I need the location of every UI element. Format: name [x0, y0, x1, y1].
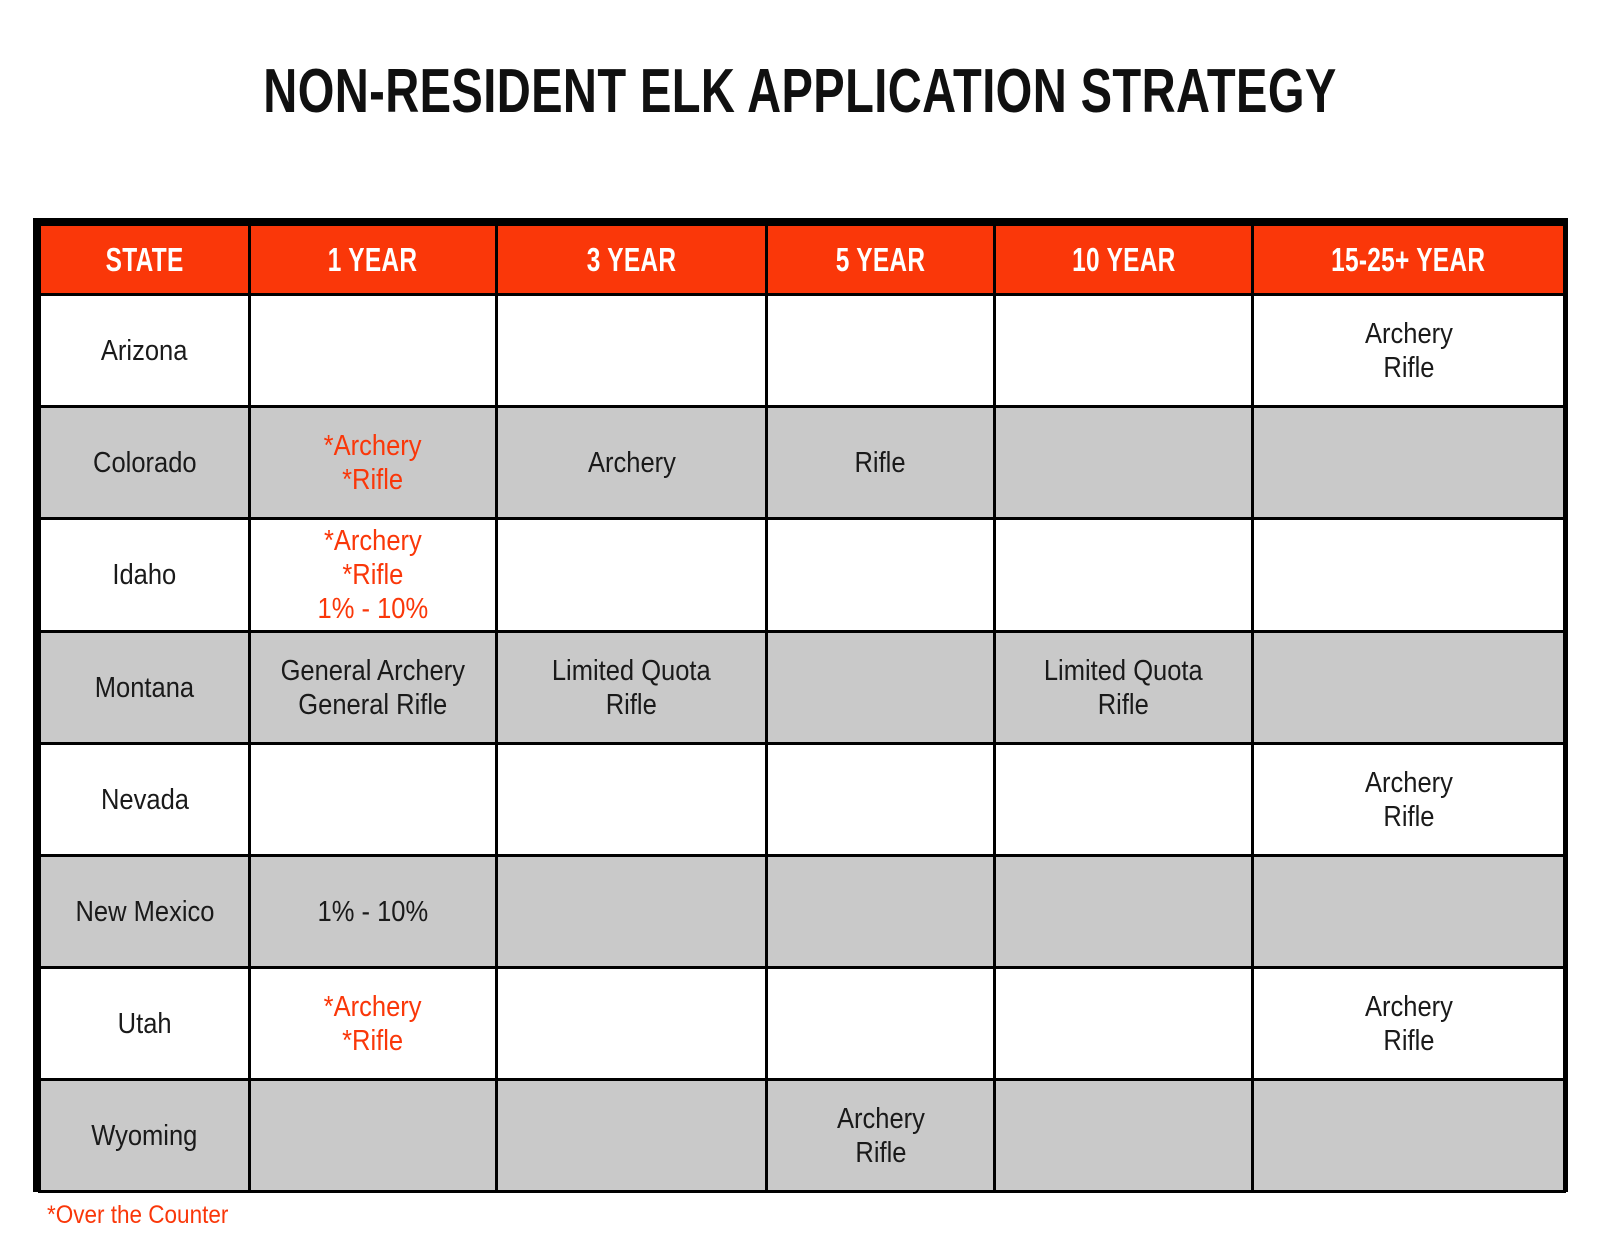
page-title: NON-RESIDENT ELK APPLICATION STRATEGY	[192, 56, 1408, 128]
cell-value: Limited Quota Rifle	[1044, 654, 1203, 722]
table-row: NevadaArchery Rifle	[40, 744, 1565, 856]
data-cell: Limited Quota Rifle	[995, 632, 1253, 744]
state-cell: Montana	[40, 632, 250, 744]
cell-value: Archery Rifle	[837, 1102, 925, 1170]
table-row: Utah*Archery *RifleArchery Rifle	[40, 968, 1565, 1080]
column-header-15-25-year-label: 15-25+ YEAR	[1331, 242, 1485, 278]
state-name: Nevada	[101, 783, 189, 817]
column-header-15-25-year: 15-25+ YEAR	[1253, 225, 1565, 295]
data-cell	[1253, 407, 1565, 519]
state-cell: Nevada	[40, 744, 250, 856]
data-cell	[250, 744, 497, 856]
table-row: Colorado*Archery *RifleArcheryRifle	[40, 407, 1565, 519]
data-cell	[497, 856, 767, 968]
column-header-state-label: STATE	[106, 242, 184, 278]
cell-value: Archery Rifle	[1365, 317, 1453, 385]
cell-value: General Archery General Rifle	[281, 654, 465, 722]
column-header-state: STATE	[40, 225, 250, 295]
state-name: Colorado	[93, 446, 197, 480]
footnote-label: *Over the Counter	[47, 1200, 228, 1230]
cell-value: Limited Quota Rifle	[552, 654, 711, 722]
state-name: Arizona	[101, 334, 188, 368]
state-cell: Wyoming	[40, 1080, 250, 1192]
column-header-5-year: 5 YEAR	[767, 225, 995, 295]
data-cell	[995, 295, 1253, 407]
state-name: New Mexico	[75, 895, 214, 929]
data-cell: 1% - 10%	[250, 856, 497, 968]
cell-value: Archery Rifle	[1365, 766, 1453, 834]
data-cell	[1253, 856, 1565, 968]
column-header-3-year-label: 3 YEAR	[587, 242, 677, 278]
cell-value: 1% - 10%	[318, 895, 429, 929]
table-header: STATE 1 YEAR 3 YEAR 5 YEAR 10 YEAR 15-25…	[40, 225, 1565, 295]
column-header-10-year-label: 10 YEAR	[1072, 242, 1175, 278]
data-cell	[250, 1080, 497, 1192]
data-cell	[767, 744, 995, 856]
data-cell	[995, 407, 1253, 519]
data-cell: *Archery *Rifle	[250, 968, 497, 1080]
table-row: ArizonaArchery Rifle	[40, 295, 1565, 407]
data-cell	[1253, 519, 1565, 632]
data-cell	[995, 744, 1253, 856]
strategy-table: STATE 1 YEAR 3 YEAR 5 YEAR 10 YEAR 15-25…	[38, 223, 1566, 1193]
state-name: Montana	[95, 671, 194, 705]
state-cell: Arizona	[40, 295, 250, 407]
data-cell	[767, 295, 995, 407]
column-header-1-year: 1 YEAR	[250, 225, 497, 295]
column-header-1-year-label: 1 YEAR	[328, 242, 418, 278]
data-cell: *Archery *Rifle 1% - 10%	[250, 519, 497, 632]
cell-value: Archery Rifle	[1365, 990, 1453, 1058]
data-cell: Archery	[497, 407, 767, 519]
data-cell	[767, 968, 995, 1080]
column-header-5-year-label: 5 YEAR	[836, 242, 926, 278]
data-cell	[1253, 1080, 1565, 1192]
data-cell: Archery Rifle	[1253, 295, 1565, 407]
data-cell: Archery Rifle	[767, 1080, 995, 1192]
data-cell	[995, 968, 1253, 1080]
cell-value: *Archery *Rifle	[324, 990, 422, 1058]
data-cell	[497, 968, 767, 1080]
data-cell	[995, 519, 1253, 632]
footnote: *Over the Counter	[47, 1200, 249, 1230]
state-cell: Utah	[40, 968, 250, 1080]
data-cell: *Archery *Rifle	[250, 407, 497, 519]
data-cell	[767, 519, 995, 632]
data-cell: Rifle	[767, 407, 995, 519]
state-name: Utah	[118, 1007, 172, 1041]
state-cell: New Mexico	[40, 856, 250, 968]
data-cell	[497, 744, 767, 856]
data-cell: Archery Rifle	[1253, 968, 1565, 1080]
cell-value: *Archery *Rifle 1% - 10%	[318, 524, 429, 626]
table-row: Idaho*Archery *Rifle 1% - 10%	[40, 519, 1565, 632]
data-cell	[767, 856, 995, 968]
cell-value: Archery	[588, 446, 676, 480]
data-cell	[497, 519, 767, 632]
data-cell	[250, 295, 497, 407]
table-row: New Mexico1% - 10%	[40, 856, 1565, 968]
column-header-3-year: 3 YEAR	[497, 225, 767, 295]
data-cell	[995, 1080, 1253, 1192]
header-row: STATE 1 YEAR 3 YEAR 5 YEAR 10 YEAR 15-25…	[40, 225, 1565, 295]
table-body: ArizonaArchery RifleColorado*Archery *Ri…	[40, 295, 1565, 1192]
state-name: Wyoming	[91, 1119, 197, 1153]
table-row: WyomingArchery Rifle	[40, 1080, 1565, 1192]
cell-value: Rifle	[855, 446, 906, 480]
strategy-table-container: STATE 1 YEAR 3 YEAR 5 YEAR 10 YEAR 15-25…	[33, 218, 1568, 1192]
data-cell	[497, 1080, 767, 1192]
data-cell: Limited Quota Rifle	[497, 632, 767, 744]
cell-value: *Archery *Rifle	[324, 429, 422, 497]
data-cell: General Archery General Rifle	[250, 632, 497, 744]
state-cell: Idaho	[40, 519, 250, 632]
state-name: Idaho	[113, 558, 177, 592]
data-cell	[1253, 632, 1565, 744]
data-cell	[767, 632, 995, 744]
data-cell	[497, 295, 767, 407]
data-cell	[995, 856, 1253, 968]
column-header-10-year: 10 YEAR	[995, 225, 1253, 295]
state-cell: Colorado	[40, 407, 250, 519]
data-cell: Archery Rifle	[1253, 744, 1565, 856]
table-row: MontanaGeneral Archery General RifleLimi…	[40, 632, 1565, 744]
